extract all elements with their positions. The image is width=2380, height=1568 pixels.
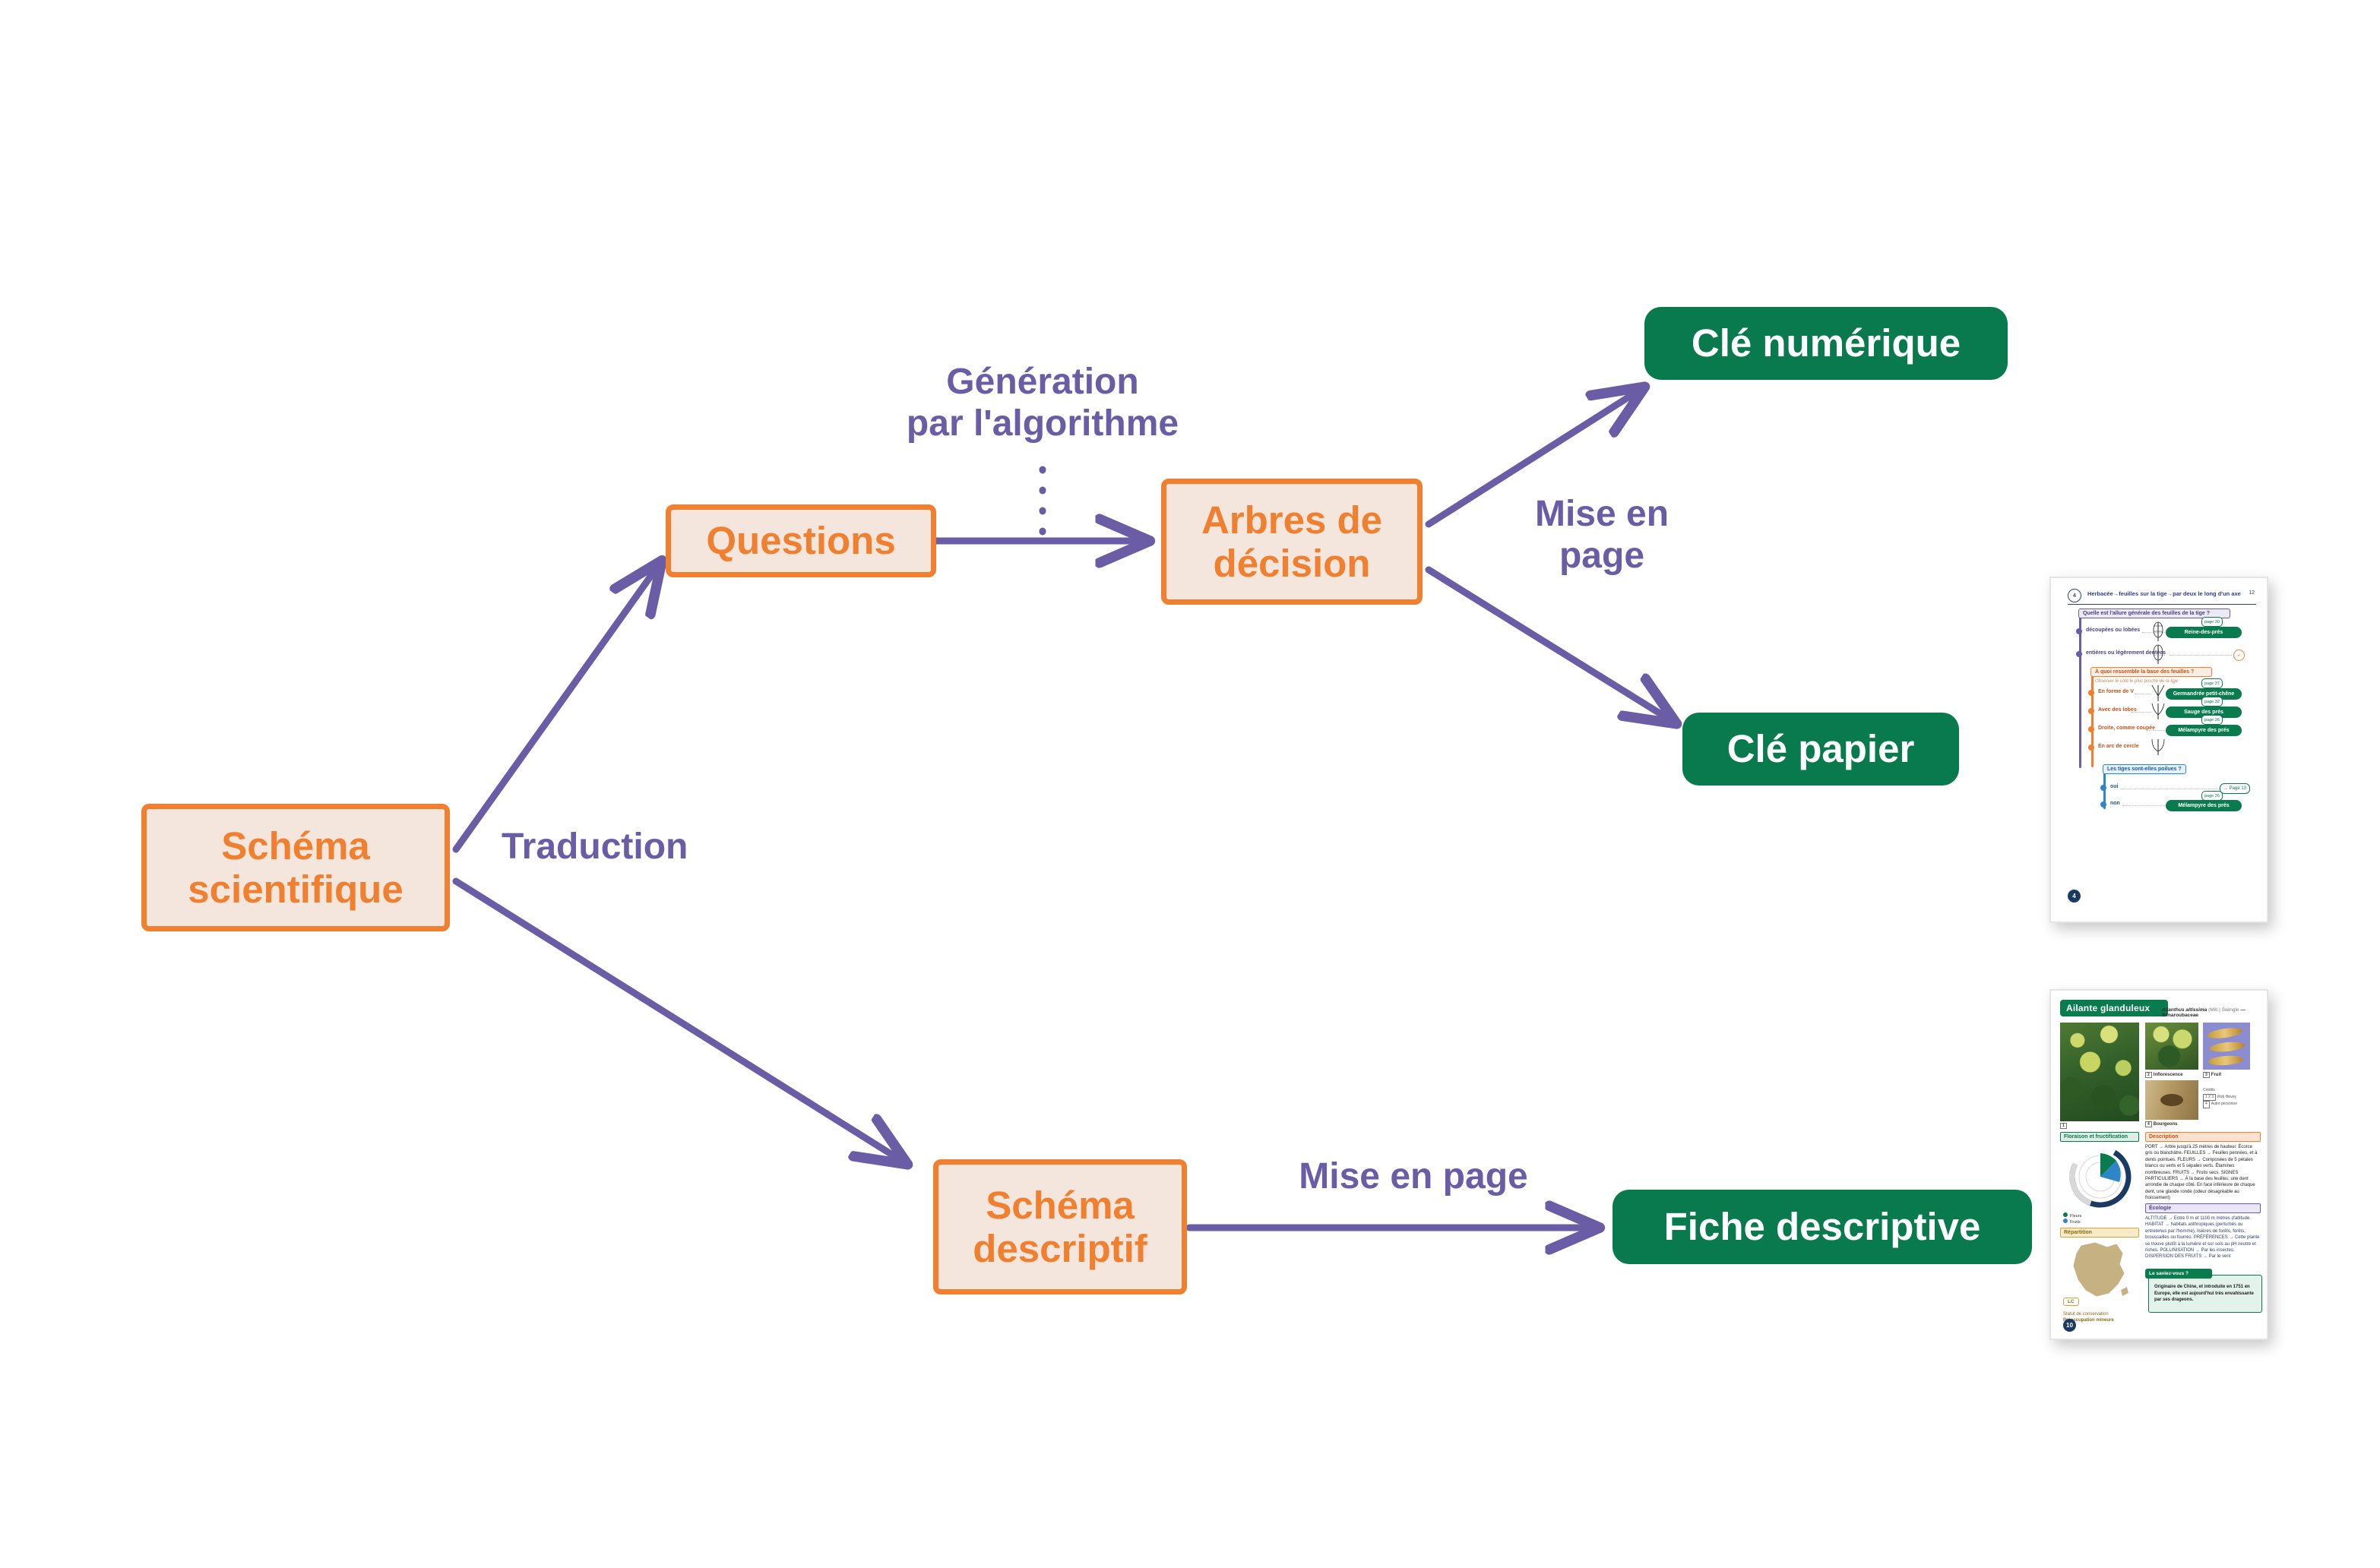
- species-photo-caption: 2Inflorescence: [2145, 1072, 2182, 1078]
- node-schema-scientifique[interactable]: Schéma scientifique: [141, 804, 450, 931]
- section-description: Description: [2145, 1132, 2261, 1142]
- edge-label-mise-en-page-cle: Mise en page: [1511, 494, 1693, 577]
- leaf-icon: [2148, 643, 2168, 665]
- caption-number: 3: [2203, 1072, 2210, 1078]
- key-page-chip: page 26: [2201, 791, 2223, 801]
- phenology-wheel-chart: [2066, 1144, 2135, 1209]
- node-cle-numerique[interactable]: Clé numérique: [1644, 307, 2008, 380]
- legend-swatch: [2063, 1219, 2068, 1223]
- key-page-chip: page 32: [2201, 697, 2223, 707]
- species-sheet: Ailante glanduleux Ailanthus altissima (…: [2049, 989, 2268, 1340]
- key-leader: [2170, 655, 2232, 656]
- species-title: Ailante glanduleux: [2060, 1000, 2168, 1016]
- credit-numbers: 4: [2203, 1101, 2210, 1108]
- key-bullet: [2088, 690, 2094, 696]
- description-text: PORT → Arbre jusqu'à 25 mètres de hauteu…: [2145, 1144, 2261, 1202]
- legend-item: Fleurs: [2063, 1212, 2081, 1219]
- conservation-status-code: LC: [2063, 1298, 2079, 1306]
- key-bullet: [2076, 628, 2082, 634]
- species-latin-name: Ailanthus altissima (Mill.) Swingle — Si…: [2162, 1007, 2267, 1018]
- key-page-chip: page 26: [2201, 715, 2223, 725]
- key-page-chip: page 30: [2201, 617, 2223, 627]
- key-breadcrumb: Herbacée→feuilles sur la tige→par deux l…: [2087, 590, 2241, 597]
- credit-author: Autre personne: [2211, 1102, 2237, 1106]
- caption-text: Inflorescence: [2154, 1073, 2183, 1077]
- node-arbres-de-decision[interactable]: Arbres de décision: [1161, 479, 1423, 605]
- key-continue-icon: ↙: [2233, 650, 2245, 661]
- section-repartition: Répartition: [2060, 1228, 2139, 1238]
- legend-swatch: [2063, 1212, 2068, 1217]
- species-photo-buds: [2145, 1080, 2198, 1120]
- key-spine-purple: [2079, 616, 2081, 768]
- key-goto-chip: → Page 13: [2220, 783, 2250, 794]
- key-leader: [2122, 805, 2165, 806]
- species-photo-caption: 4Bourgeons: [2145, 1121, 2177, 1127]
- key-folio: 4: [2068, 890, 2081, 903]
- caption-number: 4: [2145, 1121, 2152, 1127]
- key-page-sheet: 4 Herbacée→feuilles sur la tige→par deux…: [2049, 577, 2268, 923]
- status-label: Statut de conservation: [2063, 1311, 2147, 1317]
- node-cle-papier[interactable]: Clé papier: [1682, 713, 1959, 786]
- species-binomial: Ailanthus altissima: [2162, 1007, 2207, 1013]
- key-bullet: [2088, 744, 2094, 751]
- species-folio: 10: [2063, 1319, 2076, 1332]
- credit-line: 1 2 3Rob Hovey: [2203, 1094, 2264, 1102]
- key-header-page: 12: [2249, 590, 2255, 596]
- species-credits: Crédits 1 2 3Rob Hovey 4Autre personne: [2203, 1088, 2264, 1108]
- edge-schema-to-questions: [456, 564, 660, 849]
- key-option: En forme de V: [2098, 689, 2134, 694]
- edge-label-traduction: Traduction: [502, 827, 760, 868]
- section-floraison: Floraison et fructification: [2060, 1132, 2139, 1142]
- edge-schema-to-descriptif: [456, 881, 904, 1162]
- species-photo-habit: [2060, 1023, 2139, 1121]
- key-spine-orange: [2091, 672, 2094, 767]
- species-photo-fruit: [2203, 1023, 2250, 1070]
- node-fiche-descriptive[interactable]: Fiche descriptive: [1613, 1190, 2032, 1264]
- key-step-badge: 4: [2068, 589, 2081, 602]
- species-photo-caption: 3Fruit: [2203, 1072, 2221, 1078]
- caption-number: 1: [2060, 1123, 2067, 1129]
- did-you-know-header: Le saviez-vous ?: [2145, 1269, 2212, 1279]
- bud-detail: [2160, 1094, 2183, 1106]
- species-photo-caption: 1: [2060, 1123, 2068, 1129]
- key-page-chip: page 27: [2201, 678, 2223, 688]
- edge-layer: [0, 0, 2380, 1568]
- paper-species-sheet-preview[interactable]: Ailante glanduleux Ailanthus altissima (…: [2049, 989, 2268, 1340]
- section-ecologie: Écologie: [2145, 1203, 2261, 1213]
- edge-label-mise-en-page-fiche: Mise en page: [1254, 1156, 1573, 1198]
- fruit-sample: [2207, 1026, 2242, 1040]
- key-bullet: [2076, 651, 2082, 657]
- key-taxon: Mélampyre des prés: [2166, 725, 2242, 736]
- legend-label: Fruits: [2070, 1220, 2081, 1225]
- key-taxon: Reine-des-prés: [2166, 627, 2242, 638]
- key-option: oui: [2110, 784, 2119, 789]
- credit-numbers: 1 2 3: [2203, 1094, 2216, 1102]
- edge-label-generation-algorithme: Génération par l'algorithme: [860, 362, 1225, 444]
- key-leader: [2147, 730, 2165, 731]
- key-bullet: [2100, 801, 2106, 808]
- caption-text: Fruit: [2211, 1073, 2221, 1077]
- caption-number: 2: [2145, 1072, 2152, 1078]
- chart-legend: Fleurs Fruits: [2063, 1212, 2081, 1225]
- did-you-know-text: Originaire de Chine, et introduite en 17…: [2154, 1284, 2255, 1304]
- caption-text: Bourgeons: [2154, 1122, 2178, 1127]
- conservation-status: Statut de conservation Préoccupation min…: [2063, 1311, 2147, 1324]
- key-taxon: Mélampyre des prés: [2166, 800, 2242, 811]
- key-question-2: À quoi ressemble la base des feuilles ?: [2090, 667, 2212, 677]
- key-leader: [2121, 789, 2220, 789]
- key-question-3: Les tiges sont-elles poilues ?: [2103, 764, 2186, 774]
- node-schema-descriptif[interactable]: Schéma descriptif: [933, 1159, 1187, 1295]
- edge-arbres-to-cle-papier: [1429, 570, 1673, 722]
- key-option: non: [2110, 801, 2120, 806]
- legend-item: Fruits: [2063, 1219, 2081, 1225]
- node-questions[interactable]: Questions: [666, 504, 936, 577]
- credit-line: 4Autre personne: [2203, 1101, 2264, 1108]
- key-bullet: [2088, 708, 2094, 714]
- key-page-header: 4 Herbacée→feuilles sur la tige→par deux…: [2068, 589, 2256, 605]
- species-photo-inflorescence: [2145, 1023, 2198, 1070]
- key-option: En arc de cercle: [2098, 744, 2139, 749]
- credits-title: Crédits: [2203, 1088, 2264, 1094]
- fruit-sample: [2209, 1041, 2245, 1054]
- key-bullet: [2100, 785, 2106, 791]
- species-author: (Mill.) Swingle: [2208, 1007, 2239, 1013]
- fruit-sample: [2208, 1054, 2244, 1066]
- key-option: découpées ou lobées: [2086, 628, 2140, 633]
- ecologie-text: ALTITUDE → Entre 0 m et 1100 m mètres d'…: [2145, 1216, 2261, 1260]
- france-distribution-map: [2066, 1240, 2136, 1304]
- leaf-base-icon: [2148, 738, 2168, 757]
- key-bullet: [2088, 726, 2094, 732]
- paper-key-page-preview[interactable]: 4 Herbacée→feuilles sur la tige→par deux…: [2049, 577, 2268, 923]
- diagram-canvas: Schéma scientifique Questions Arbres de …: [0, 0, 2380, 1568]
- credit-author: Rob Hovey: [2217, 1095, 2236, 1099]
